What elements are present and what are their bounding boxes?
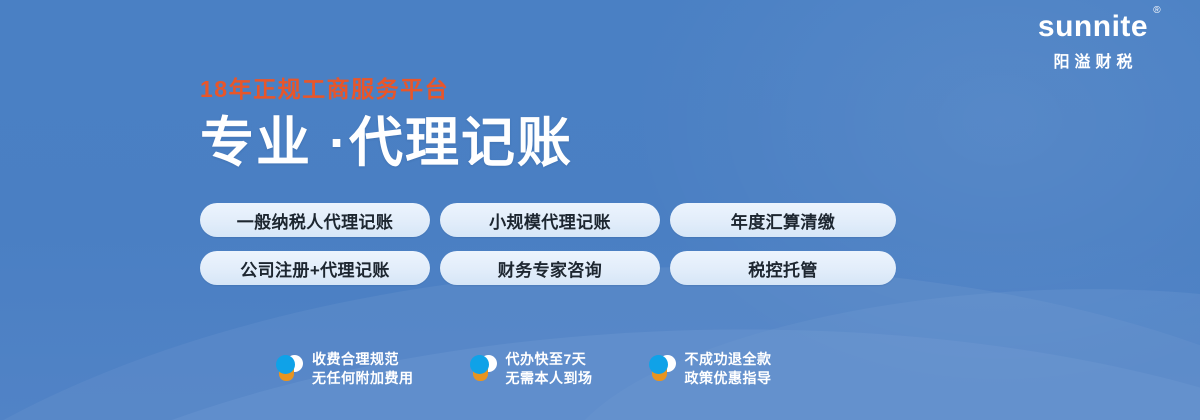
hero-tagline: 18年正规工商服务平台 [200,74,573,104]
feature-line-2: 无需本人到场 [506,369,593,388]
service-pill[interactable]: 财务专家咨询 [440,251,660,285]
feature-line-1: 代办快至7天 [506,350,593,369]
feature-text: 收费合理规范 无任何附加费用 [312,350,414,388]
service-pill[interactable]: 年度汇算清缴 [670,203,896,237]
dot-shape [276,355,295,374]
brand-wordmark: sunnite® [1038,8,1148,46]
dot-shape [470,355,489,374]
feature-line-1: 收费合理规范 [312,350,414,369]
feature-item: 代办快至7天 无需本人到场 [469,350,593,388]
hero-headline: 专业 ·代理记账 [200,110,573,176]
dot-shape [649,355,668,374]
service-pill[interactable]: 税控托管 [670,251,896,285]
service-pill[interactable]: 公司注册+代理记账 [200,251,430,285]
brand-logo[interactable]: sunnite® 阳溢财税 [1008,8,1178,72]
feature-item: 收费合理规范 无任何附加费用 [275,350,414,388]
feature-text: 不成功退全款 政策优惠指导 [685,350,772,388]
feature-strip: 收费合理规范 无任何附加费用 代办快至7天 无需本人到场 不成功退全款 [275,350,772,388]
brand-name-cn: 阳溢财税 [1008,48,1178,72]
feature-text: 代办快至7天 无需本人到场 [506,350,593,388]
promo-banner: sunnite® 阳溢财税 18年正规工商服务平台 专业 ·代理记账 一般纳税人… [0,0,1200,420]
service-pill-grid: 一般纳税人代理记账 小规模代理记账 年度汇算清缴 公司注册+代理记账 财务专家咨… [200,203,896,285]
feature-item: 不成功退全款 政策优惠指导 [648,350,772,388]
circle-cup-icon [275,354,303,385]
registered-trademark-icon: ® [1153,6,1161,16]
feature-line-1: 不成功退全款 [685,350,772,369]
service-pill[interactable]: 一般纳税人代理记账 [200,203,430,237]
circle-cup-icon [648,354,676,385]
hero-text-block: 18年正规工商服务平台 专业 ·代理记账 [200,74,573,176]
service-pill[interactable]: 小规模代理记账 [440,203,660,237]
feature-line-2: 无任何附加费用 [312,369,414,388]
circle-cup-icon [469,354,497,385]
feature-line-2: 政策优惠指导 [685,369,772,388]
